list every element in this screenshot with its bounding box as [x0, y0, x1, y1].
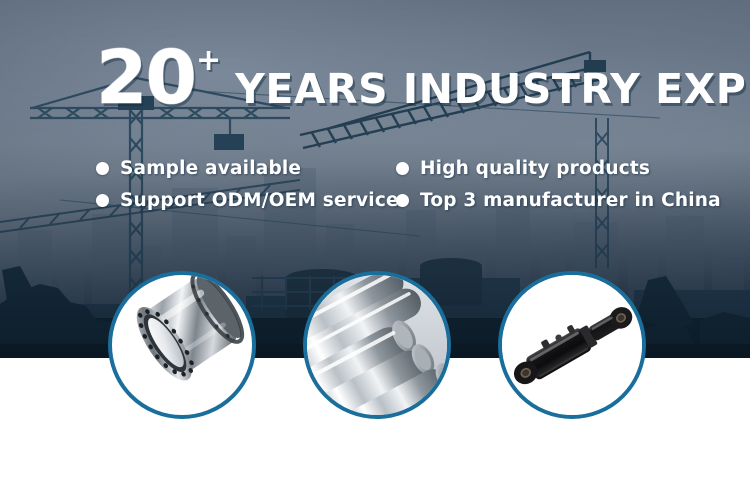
filled-circle-bullet-icon — [396, 194, 409, 207]
feature-label: High quality products — [420, 158, 650, 179]
filled-circle-bullet-icon — [96, 162, 109, 175]
feature-list: Sample available Support ODM/OEM service… — [96, 158, 696, 211]
feature-item: Support ODM/OEM service — [96, 190, 396, 211]
product-showcase: Machined steel flange pipe with bolt hol… — [0, 271, 750, 431]
feature-column-left: Sample available Support ODM/OEM service — [96, 158, 396, 211]
product-circle-hydraulic-cylinder[interactable]: Black hydraulic cylinder with clevis end… — [498, 271, 646, 419]
headline: 20 + YEARS INDUSTRY EXPERIENCE — [96, 44, 750, 112]
feature-item: Sample available — [96, 158, 396, 179]
product-circle-polished-steel-rods[interactable]: Polished chrome plated steel round bars — [303, 271, 451, 419]
feature-label: Support ODM/OEM service — [120, 190, 399, 211]
years-number-group: 20 + — [96, 44, 221, 112]
plus-superscript: + — [196, 46, 221, 76]
feature-label: Sample available — [120, 158, 301, 179]
flanged-steel-pipe-image — [112, 275, 252, 415]
headline-text: YEARS INDUSTRY EXPERIENCE — [235, 69, 750, 110]
feature-item: Top 3 manufacturer in China — [396, 190, 696, 211]
polished-steel-rods-image — [307, 275, 447, 415]
industry-experience-banner: 20 + YEARS INDUSTRY EXPERIENCE Sample av… — [0, 0, 750, 482]
filled-circle-bullet-icon — [396, 162, 409, 175]
product-circle-flanged-steel-pipe[interactable]: Machined steel flange pipe with bolt hol… — [108, 271, 256, 419]
feature-label: Top 3 manufacturer in China — [420, 190, 721, 211]
hydraulic-cylinder-image — [502, 275, 642, 415]
filled-circle-bullet-icon — [96, 194, 109, 207]
years-number: 20 — [96, 44, 195, 112]
feature-item: High quality products — [396, 158, 696, 179]
feature-column-right: High quality products Top 3 manufacturer… — [396, 158, 696, 211]
